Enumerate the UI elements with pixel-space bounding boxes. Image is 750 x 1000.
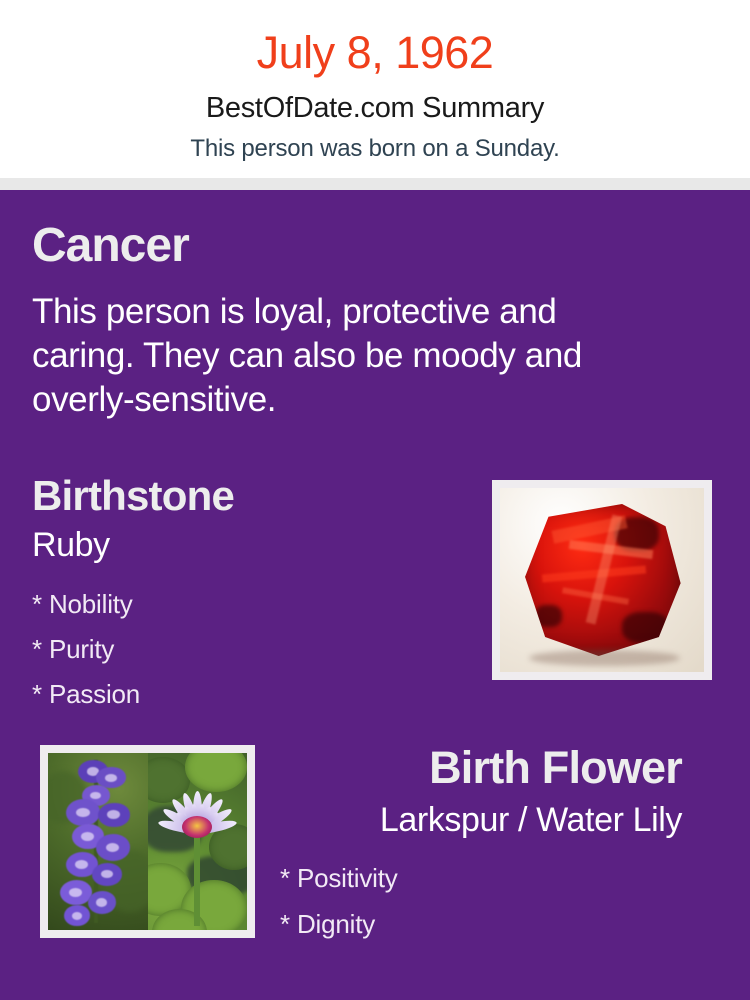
page-title-date: July 8, 1962 <box>0 0 750 75</box>
water-lily-photo <box>148 753 248 930</box>
birth-day-note: This person was born on a Sunday. <box>0 123 750 161</box>
larkspur-photo <box>48 753 148 930</box>
summary-panel: Cancer This person is loyal, protective … <box>0 190 750 1000</box>
birthflower-image <box>48 753 247 930</box>
birthflower-title: Birth Flower <box>429 745 682 790</box>
birthstone-trait: * Purity <box>32 627 140 672</box>
site-name-summary: BestOfDate.com Summary <box>0 75 750 123</box>
birthstone-image <box>500 488 704 672</box>
birthstone-title: Birthstone <box>32 475 234 517</box>
birthflower-image-frame <box>40 745 255 938</box>
birthstone-trait: * Passion <box>32 672 140 717</box>
birthstone-trait: * Nobility <box>32 582 140 627</box>
header-divider <box>0 178 750 190</box>
birthstone-image-frame <box>492 480 712 680</box>
birthflower-name: Larkspur / Water Lily <box>380 803 682 837</box>
birthflower-trait: * Positivity <box>280 855 398 901</box>
birthstone-trait-list: * Nobility * Purity * Passion <box>32 582 140 717</box>
birthflower-trait: * Dignity <box>280 901 398 947</box>
birthflower-trait-list: * Positivity * Dignity <box>280 855 398 947</box>
page-header: July 8, 1962 BestOfDate.com Summary This… <box>0 0 750 178</box>
zodiac-sign-title: Cancer <box>32 222 189 270</box>
zodiac-description: This person is loyal, protective and car… <box>32 290 642 422</box>
birthstone-name: Ruby <box>32 528 110 562</box>
